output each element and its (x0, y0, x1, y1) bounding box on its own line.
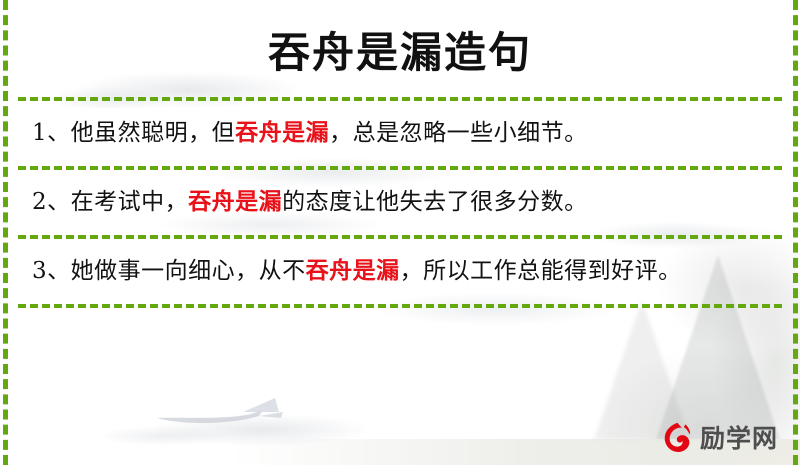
sentence-3-before: 她做事一向细心，从不 (71, 258, 306, 284)
divider-bottom (18, 304, 782, 308)
content-area: 吞舟是漏造句 1、他虽然聪明，但吞舟是漏，总是忽略一些小细节。 2、在考试中，吞… (0, 0, 800, 465)
site-logo-text: 励学网 (700, 426, 778, 451)
left-dashed-border (3, 0, 8, 465)
site-logo[interactable]: 励学网 (660, 421, 778, 455)
sentence-3-number: 3、 (32, 258, 71, 284)
sentence-2-idiom: 吞舟是漏 (188, 188, 282, 215)
flame-swirl-logo-icon (660, 421, 694, 455)
sentence-2-before: 在考试中， (71, 189, 189, 215)
page-root: 吞舟是漏造句 1、他虽然聪明，但吞舟是漏，总是忽略一些小细节。 2、在考试中，吞… (0, 0, 800, 465)
sentence-2-number: 2、 (32, 189, 71, 215)
page-title: 吞舟是漏造句 (28, 0, 772, 97)
sentence-item-3: 3、她做事一向细心，从不吞舟是漏，所以工作总能得到好评。 (28, 239, 772, 304)
sentence-1-number: 1、 (32, 120, 71, 146)
sentence-item-1: 1、他虽然聪明，但吞舟是漏，总是忽略一些小细节。 (28, 101, 772, 166)
sentence-1-idiom: 吞舟是漏 (235, 119, 329, 146)
sentence-3-idiom: 吞舟是漏 (306, 257, 400, 284)
sentence-1-after: ，总是忽略一些小细节。 (329, 120, 588, 146)
sentence-3-after: ，所以工作总能得到好评。 (400, 258, 682, 284)
sentence-item-2: 2、在考试中，吞舟是漏的态度让他失去了很多分数。 (28, 170, 772, 235)
right-dashed-border (793, 0, 798, 465)
sentence-2-after: 的态度让他失去了很多分数。 (282, 189, 588, 215)
sentence-1-before: 他虽然聪明，但 (71, 120, 236, 146)
